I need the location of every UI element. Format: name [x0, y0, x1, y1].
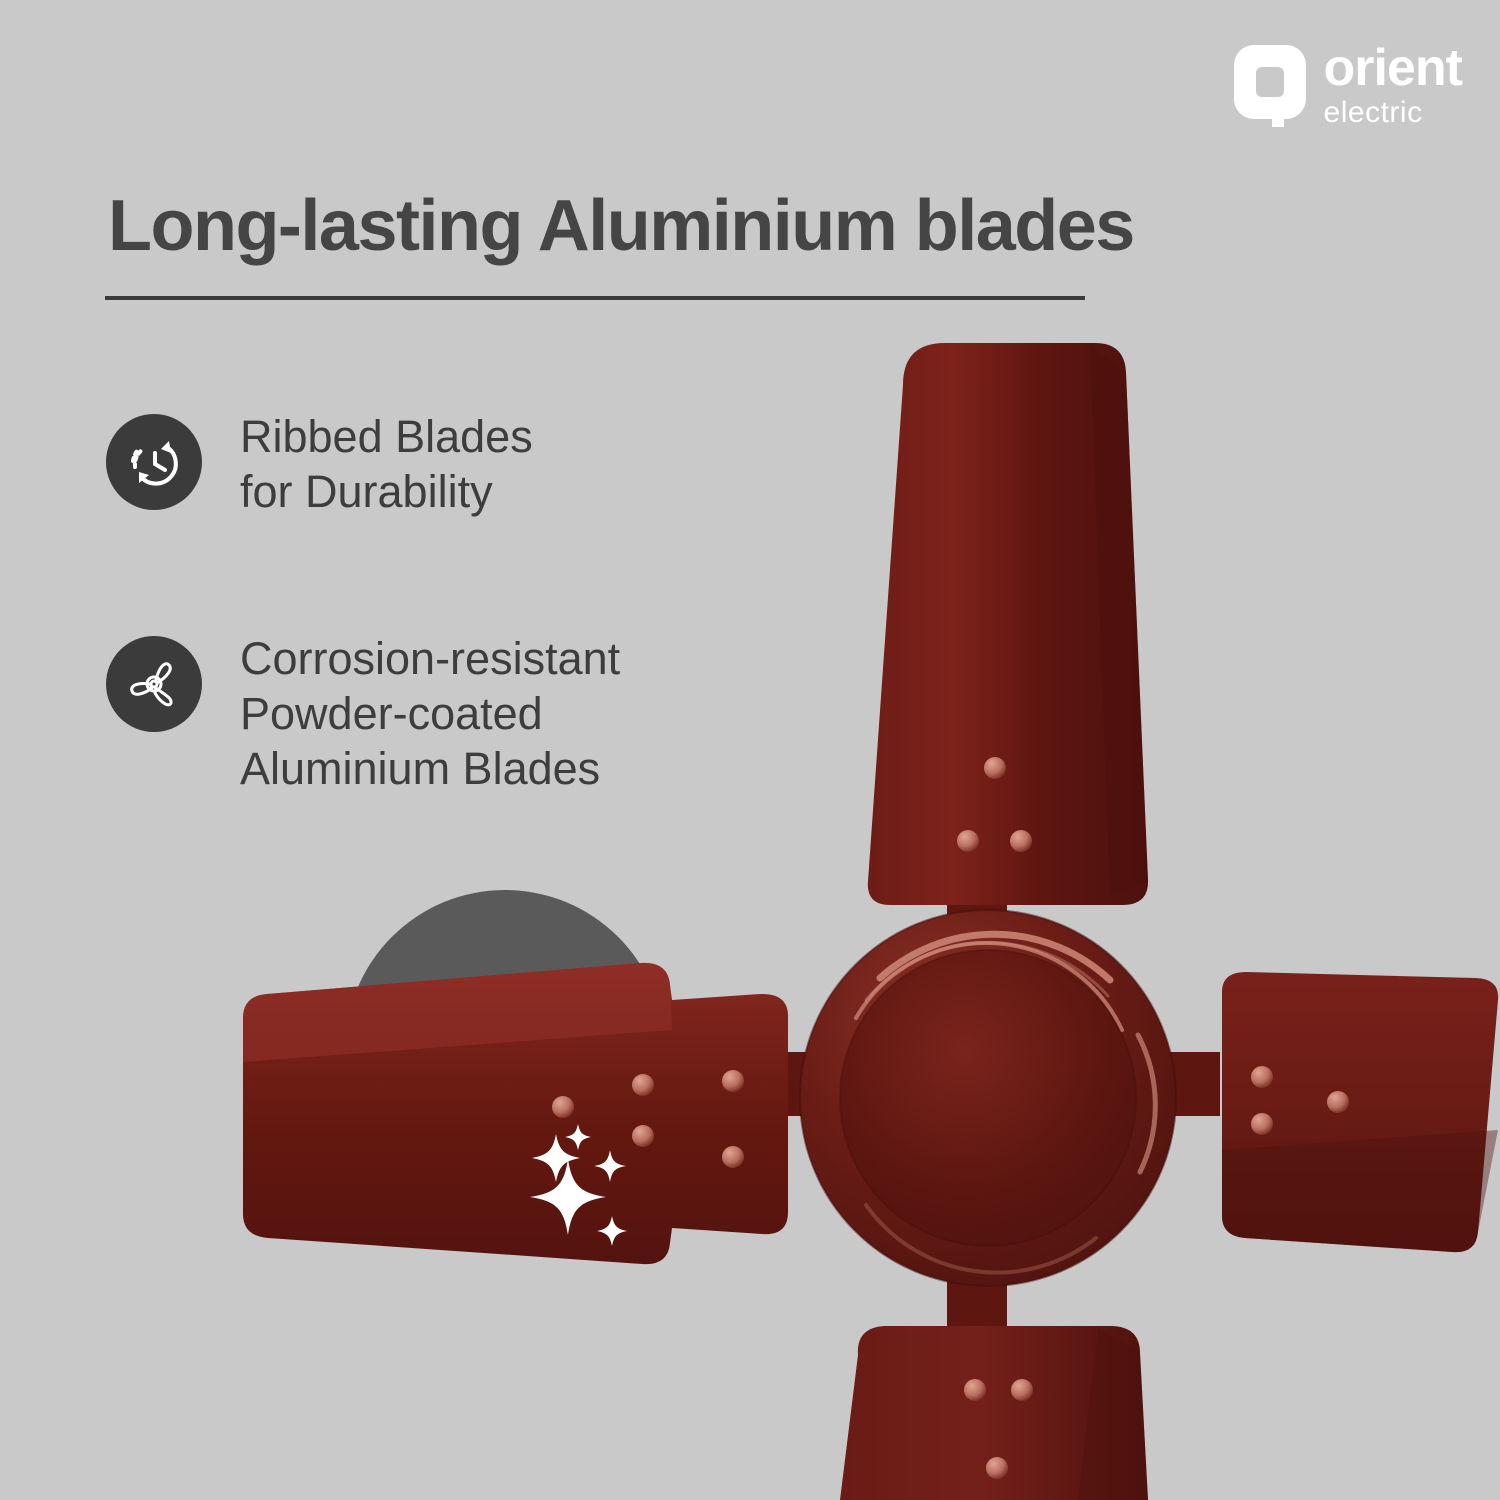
accent-circle	[345, 890, 665, 1210]
page-title: Long-lasting Aluminium blades	[108, 185, 1134, 267]
fan-blade-top	[868, 343, 1148, 905]
fan-hub	[800, 910, 1176, 1286]
title-divider	[105, 296, 1085, 300]
fan-blade-right	[1222, 972, 1498, 1252]
propeller-fan-icon	[106, 636, 202, 732]
product-feature-banner: orient electric Long-lasting Aluminium b…	[0, 0, 1500, 1500]
brand-logo: orient electric	[1232, 42, 1462, 128]
feature-item: Corrosion-resistant Powder-coated Alumin…	[106, 630, 826, 797]
orient-o-mark-icon	[1232, 43, 1308, 127]
feature-label: Corrosion-resistant Powder-coated Alumin…	[240, 630, 620, 797]
brand-name: orient	[1324, 42, 1462, 94]
brand-subtitle: electric	[1324, 98, 1423, 128]
clock-history-icon	[106, 414, 202, 510]
feature-item: Ribbed Blades for Durability	[106, 408, 826, 520]
fan-blade-bottom	[840, 1326, 1148, 1500]
feature-label: Ribbed Blades for Durability	[240, 408, 533, 520]
feature-list: Ribbed Blades for Durability Corrosion-r…	[106, 408, 826, 906]
